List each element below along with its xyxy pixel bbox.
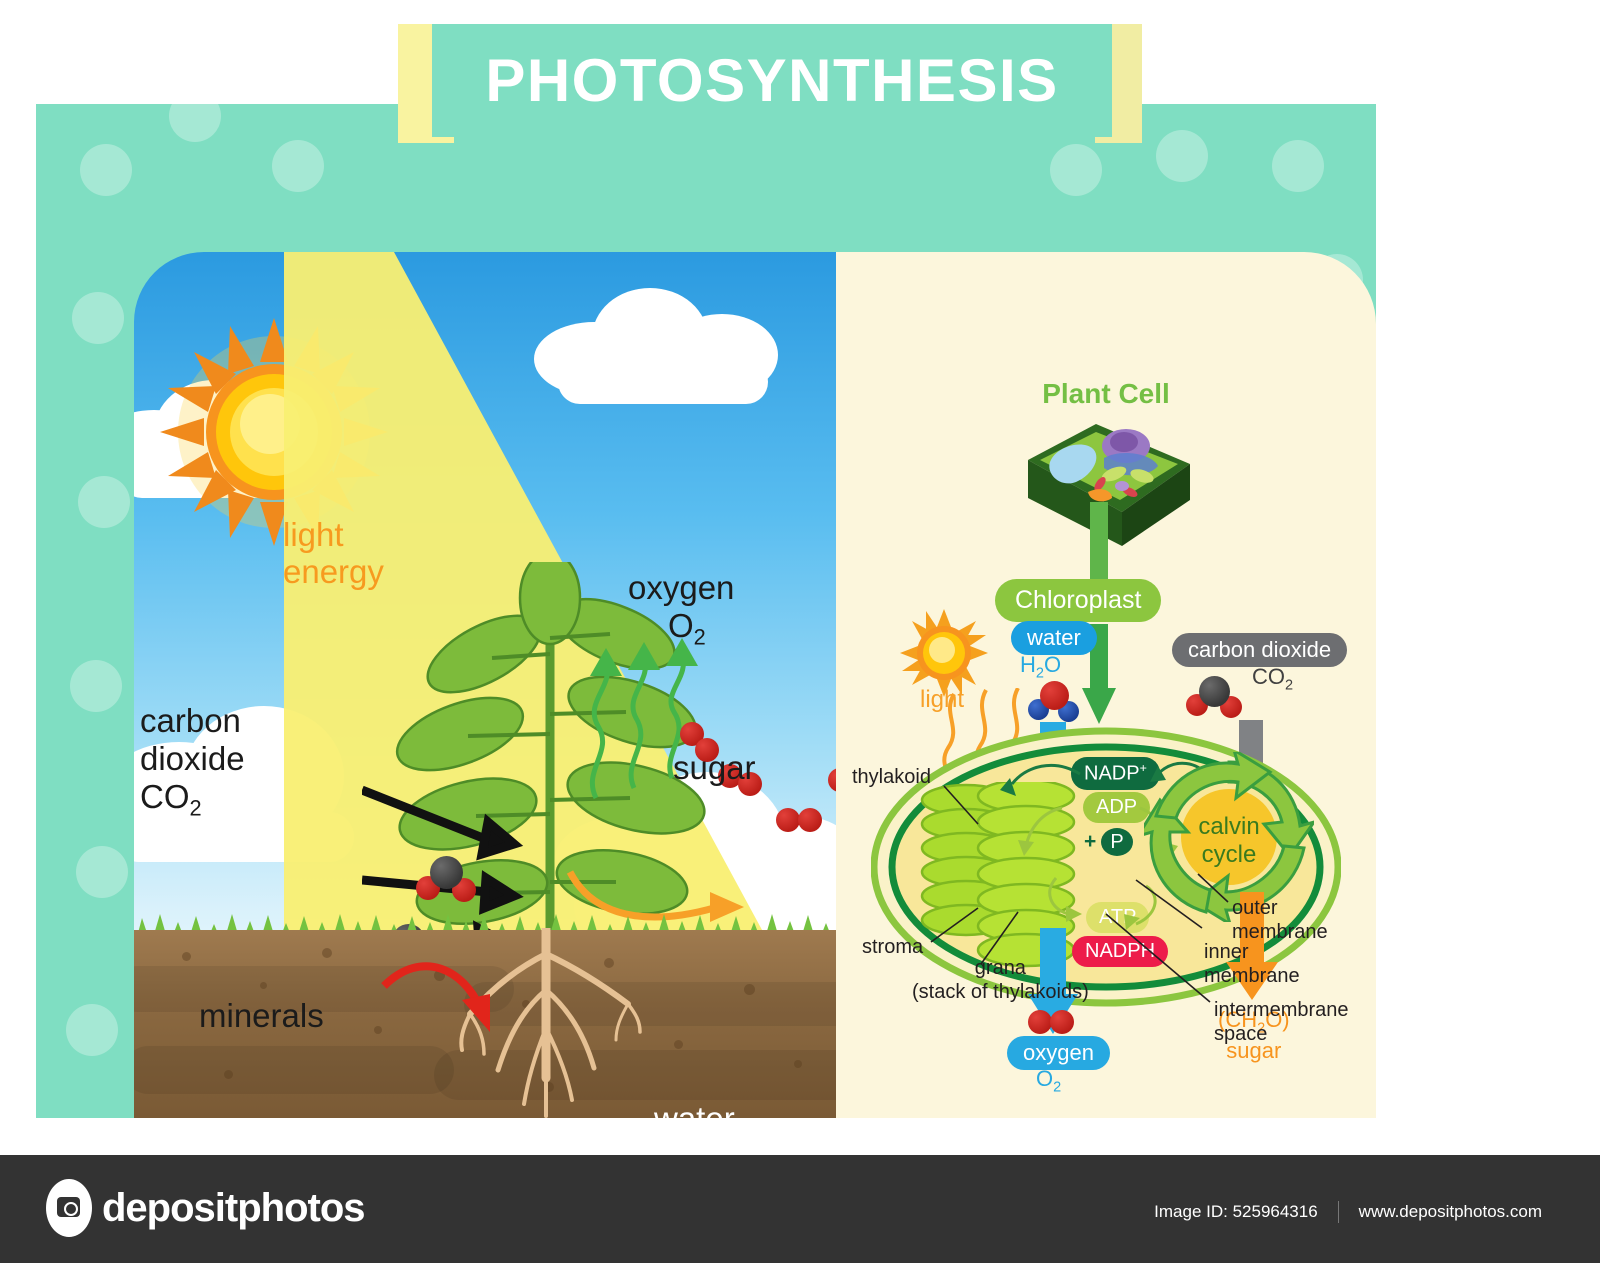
oxygen-label: oxygen O2 [628, 569, 734, 650]
sugar-label: sugar [673, 749, 756, 787]
depositphotos-logo: depositphotos [46, 1179, 365, 1237]
carbon-dioxide-label: carbon dioxide CO2 [140, 702, 245, 821]
decorative-dot [78, 476, 130, 528]
poster-card: Plant Cell [36, 104, 1376, 1118]
carbon-dioxide-pill: carbon dioxide [1172, 633, 1347, 667]
brand-wordmark: depositphotos [102, 1186, 365, 1231]
decorative-dot [66, 1004, 118, 1056]
chloroplast-pill: Chloroplast [995, 579, 1161, 622]
footer-meta: Image ID: 525964316 www.depositphotos.co… [1154, 1201, 1542, 1223]
co2-molecule [416, 856, 476, 902]
plant-cell-title: Plant Cell [836, 378, 1376, 410]
minerals-label: minerals [199, 997, 324, 1035]
minerals-arrow [378, 952, 508, 1062]
oxygen-formula: O2 [1036, 1066, 1061, 1095]
decorative-dot [272, 140, 324, 192]
intermembrane-space-label: intermembrane space [1214, 998, 1349, 1046]
oxygen-molecule [828, 758, 836, 792]
grana-label: grana (stack of thylakoids) [912, 956, 1089, 1004]
carbon-dioxide-formula: CO2 [1252, 664, 1293, 693]
decorative-dot [76, 846, 128, 898]
title-band: PHOTOSYNTHESIS [432, 24, 1112, 137]
decorative-dot [80, 144, 132, 196]
thylakoid-label: thylakoid [852, 765, 931, 789]
left-scene-panel [134, 252, 836, 1118]
image-id: Image ID: 525964316 [1154, 1202, 1318, 1222]
water-formula: H2O [1020, 652, 1061, 681]
website-url[interactable]: www.depositphotos.com [1359, 1202, 1542, 1222]
footer-bar: depositphotos Image ID: 525964316 www.de… [0, 1155, 1600, 1263]
oxygen-molecule [776, 808, 824, 836]
outer-membrane-label: outer membrane [1232, 896, 1328, 944]
decorative-dot [1272, 140, 1324, 192]
decorative-dot [1156, 130, 1208, 182]
decorative-dot [70, 660, 122, 712]
divider [1338, 1201, 1339, 1223]
page-title: PHOTOSYNTHESIS [485, 51, 1058, 111]
decorative-dot [1050, 144, 1102, 196]
right-scene-panel: Plant Cell [836, 252, 1376, 1118]
decorative-dot [169, 104, 221, 142]
water-label: water H2O [654, 1100, 735, 1118]
camera-icon [46, 1179, 92, 1237]
inner-membrane-label: inner membrane [1204, 940, 1300, 988]
photosynthesis-infographic: Plant Cell [0, 0, 1600, 1263]
decorative-dot [72, 292, 124, 344]
light-energy-label: light energy [283, 517, 384, 591]
water-pill: water [1011, 621, 1097, 655]
